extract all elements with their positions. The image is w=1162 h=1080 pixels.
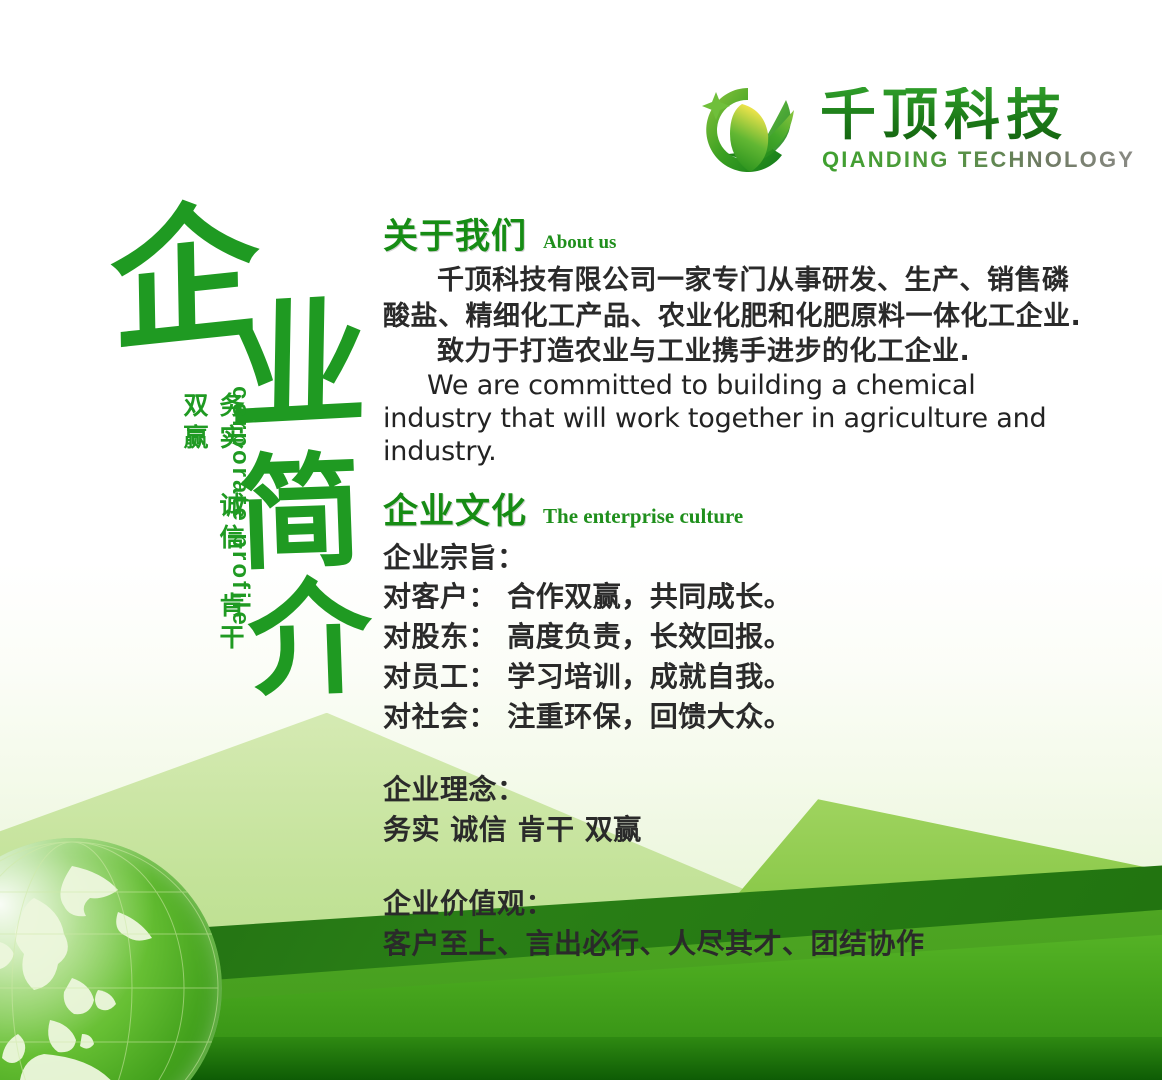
- purpose-line-2: 对股东： 高度负责，长效回报。: [383, 617, 1083, 657]
- brand-name-en: QIANDING TECHNOLOGY: [822, 147, 1135, 173]
- spacer-after-purpose: [383, 736, 1083, 770]
- title-artwork: 企 业 简 介 务实 诚信 肯干 双赢 Corporate profile: [108, 196, 378, 696]
- ground-edge-icon: [0, 1037, 1162, 1080]
- title-char-3: 简: [236, 450, 364, 578]
- about-paragraph-cn-1: 千顶科技有限公司一家专门从事研发、生产、销售磷酸盐、精细化工产品、农业化肥和化肥…: [383, 263, 1083, 334]
- section-heading-about-cn: 关于我们: [383, 208, 527, 259]
- about-paragraph-en-text: We are committed to building a chemical …: [383, 370, 1046, 467]
- vertical-subtitle: Corporate profile: [226, 386, 254, 628]
- section-heading-culture-en: The enterprise culture: [543, 504, 743, 534]
- brand-logo: 千顶科技 QIANDING TECHNOLOGY: [690, 82, 1135, 178]
- purpose-label: 企业宗旨：: [383, 538, 1083, 578]
- section-heading-about: 关于我们 About us: [383, 208, 1083, 259]
- section-heading-culture: 企业文化 The enterprise culture: [383, 483, 1083, 534]
- purpose-line-4: 对社会： 注重环保，回馈大众。: [383, 697, 1083, 737]
- leaf-circle-logo-icon: [690, 82, 806, 178]
- values-label: 企业价值观：: [383, 884, 1083, 924]
- philosophy-value: 务实 诚信 肯干 双赢: [383, 810, 1083, 850]
- spacer-after-philosophy: [383, 850, 1083, 884]
- section-heading-about-en: About us: [543, 232, 616, 259]
- philosophy-label: 企业理念：: [383, 770, 1083, 810]
- purpose-line-1: 对客户： 合作双赢，共同成长。: [383, 577, 1083, 617]
- section-culture: 企业文化 The enterprise culture 企业宗旨： 对客户： 合…: [383, 483, 1083, 964]
- green-globe-icon: [0, 838, 222, 1080]
- values-value: 客户至上、言出必行、人尽其才、团结协作: [383, 924, 1083, 964]
- section-heading-culture-cn: 企业文化: [383, 483, 527, 534]
- content-column: 关于我们 About us 千顶科技有限公司一家专门从事研发、生产、销售磷酸盐、…: [383, 208, 1083, 963]
- title-char-4: 介: [246, 576, 374, 704]
- corporate-profile-poster: 千顶科技 QIANDING TECHNOLOGY 企 业 简 介 务实 诚信 肯…: [0, 0, 1162, 1080]
- about-paragraph-en: We are committed to building a chemical …: [383, 370, 1083, 469]
- brand-name-cn: 千顶科技: [820, 87, 1068, 144]
- purpose-line-3: 对员工： 学习培训，成就自我。: [383, 657, 1083, 697]
- about-paragraph-cn-2: 致力于打造农业与工业携手进步的化工企业.: [383, 334, 1083, 370]
